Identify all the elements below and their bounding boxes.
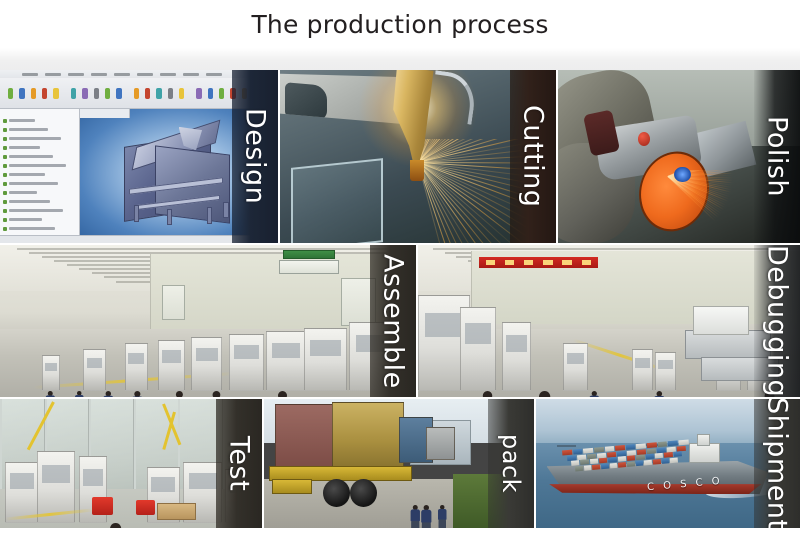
panel-label-band-debugging: Debugging	[754, 245, 800, 397]
cad-tree-label	[9, 173, 45, 176]
worker-head	[175, 391, 182, 397]
cad-menu-item	[160, 73, 176, 76]
cad-toolbar-icon	[156, 88, 161, 99]
gallery-row-2: Assemble Debugging	[0, 245, 800, 397]
debug-machine	[502, 322, 531, 391]
panel-label-band-test: Test	[216, 399, 262, 528]
cad-toolbar-icon	[31, 88, 36, 99]
page-title: The production process	[251, 10, 548, 39]
scene-assembly-line	[0, 245, 416, 397]
cad-tree-label	[9, 200, 50, 203]
cad-toolbar-icon	[19, 88, 24, 99]
scene-machine-debugging	[418, 245, 800, 397]
cad-toolbar-icon	[134, 88, 139, 99]
cad-tree-row	[3, 135, 77, 142]
process-panel-polish[interactable]: Polish	[558, 70, 800, 243]
process-panel-design[interactable]: Design	[0, 70, 278, 243]
ship-container	[670, 457, 678, 463]
cad-tree-row	[3, 189, 77, 196]
cad-tree-label	[9, 227, 55, 230]
header-divider	[0, 48, 800, 70]
ship-container	[610, 462, 618, 468]
ship-container	[601, 463, 609, 469]
workshop-banner	[479, 257, 598, 268]
machine-control-panel	[45, 363, 58, 372]
cad-toolbar-icon	[145, 88, 150, 99]
process-panel-test[interactable]: Test	[0, 399, 262, 528]
panel-label-polish: Polish	[764, 116, 791, 197]
ship-container	[661, 458, 669, 464]
process-panel-assemble[interactable]: Assemble	[0, 245, 416, 397]
cad-tree-label	[9, 128, 48, 131]
machine-control-panel	[83, 469, 103, 486]
cad-toolbar-icon	[8, 88, 13, 99]
worker-torso	[589, 396, 599, 397]
cad-tree-label	[9, 182, 58, 185]
cad-menu-item	[206, 73, 222, 76]
machine-control-panel	[234, 345, 259, 359]
cad-menu-item	[137, 73, 153, 76]
cad-toolbar-icon	[168, 88, 173, 99]
cad-menu-item	[45, 73, 61, 76]
machine-control-panel	[128, 353, 144, 365]
assembly-machine	[83, 349, 106, 391]
cad-tree-icon	[3, 227, 7, 231]
worker-head	[278, 391, 287, 397]
machine-control-panel	[310, 340, 342, 356]
panel-label-band-pack: pack	[488, 399, 534, 528]
debug-machine	[632, 349, 653, 391]
ship-container	[618, 462, 626, 468]
machine-control-panel	[567, 353, 584, 365]
cad-tree-label	[9, 164, 66, 167]
panel-label-band-cutting: Cutting	[510, 70, 556, 243]
machine-control-panel	[87, 358, 103, 368]
machine-control-panel	[162, 350, 181, 363]
machine-control-panel	[465, 323, 491, 344]
panel-label-shipment: Shipment	[764, 399, 791, 528]
cad-toolbar-icon	[116, 88, 121, 99]
worker-torso	[421, 510, 431, 523]
cad-tree-row	[3, 126, 77, 133]
cad-tree-label	[9, 119, 35, 122]
cad-tree-row	[3, 216, 77, 223]
ship-container	[592, 464, 600, 470]
process-gallery: Design Cutting	[0, 70, 800, 528]
machine-control-panel	[189, 473, 217, 488]
panel-label-band-shipment: Shipment	[754, 399, 800, 528]
assembly-machine	[42, 355, 61, 390]
assembly-machine	[229, 334, 264, 391]
machine-control-panel	[635, 358, 650, 368]
process-panel-cutting[interactable]: Cutting	[280, 70, 556, 243]
cad-toolbar-icon	[42, 88, 47, 99]
worker-torso	[131, 396, 143, 397]
worker-torso	[411, 509, 420, 521]
panel-label-pack: pack	[499, 434, 523, 493]
cad-tree-row	[3, 225, 77, 232]
worker-torso	[103, 396, 113, 397]
cad-tree-icon	[3, 128, 7, 132]
cad-tree-icon	[3, 218, 7, 222]
cad-menu-item	[183, 73, 199, 76]
cad-toolbar-icon	[208, 88, 213, 99]
cad-menu-item	[22, 73, 38, 76]
panel-label-band-assemble: Assemble	[370, 245, 416, 397]
ship-container	[635, 460, 643, 466]
ceiling-beam	[433, 248, 784, 250]
machine-control-panel	[272, 343, 300, 358]
worker-head	[538, 391, 549, 397]
cad-tree-icon	[3, 209, 7, 213]
machine-control-panel	[42, 465, 70, 483]
cad-tree-row	[3, 207, 77, 214]
cad-tree-row	[3, 171, 77, 178]
cad-toolbar-icon	[53, 88, 58, 99]
assembly-machine	[158, 340, 185, 391]
worker-torso	[438, 509, 447, 520]
worker-torso	[75, 395, 84, 397]
panel-label-design: Design	[242, 108, 269, 204]
cad-tree-icon	[3, 182, 7, 186]
cad-tree-label	[9, 191, 37, 194]
footer-whitespace	[0, 528, 800, 546]
cad-toolbar-icon	[82, 88, 87, 99]
panel-label-test: Test	[226, 436, 253, 491]
cad-menu-item	[114, 73, 130, 76]
assembly-machine	[125, 343, 148, 391]
cad-tree-icon	[3, 164, 7, 168]
cad-tree-icon	[3, 155, 7, 159]
ship-container	[575, 466, 583, 472]
ceiling-beam	[17, 248, 400, 250]
cad-tree-icon	[3, 137, 7, 141]
assembly-machine	[191, 337, 222, 391]
panel-label-band-polish: Polish	[754, 70, 800, 243]
machine-control-panel	[425, 313, 463, 338]
cad-tree-row	[3, 162, 77, 169]
cad-tree-label	[9, 218, 42, 221]
cad-tree-label	[9, 146, 40, 149]
ship-container	[653, 459, 661, 465]
assembly-machine	[266, 331, 305, 391]
machine-control-panel	[506, 335, 526, 352]
cad-tree-icon	[3, 119, 7, 123]
process-panel-shipment[interactable]: C O S C O Shipment	[536, 399, 800, 528]
debug-machine	[655, 352, 676, 390]
ship-container	[644, 459, 652, 465]
panel-label-cutting: Cutting	[520, 105, 547, 207]
cad-toolbar-icon	[71, 88, 76, 99]
worker-torso	[653, 396, 664, 397]
cad-tree-icon	[3, 146, 7, 150]
process-panel-pack[interactable]: pack	[264, 399, 534, 528]
debug-machine	[563, 343, 588, 391]
cad-toolbar-icon	[105, 88, 110, 99]
cad-toolbar-icon	[94, 88, 99, 99]
cad-menu-item	[68, 73, 84, 76]
cad-tree-label	[9, 155, 53, 158]
cad-tree-icon	[3, 191, 7, 195]
worker-legs	[438, 519, 446, 528]
ship-container	[627, 461, 635, 467]
machine-control-panel	[196, 348, 218, 361]
gallery-row-3: Test pack	[0, 399, 800, 528]
cad-tree-row	[3, 117, 77, 124]
cad-tree-icon	[3, 173, 7, 177]
gallery-row-1: Design Cutting	[0, 70, 800, 243]
worker-head	[212, 391, 220, 397]
cad-toolbar-icon	[219, 88, 224, 99]
cad-tree-label	[9, 137, 61, 140]
worker-legs	[411, 521, 419, 528]
worker-torso	[45, 395, 54, 397]
machine-control-panel	[10, 473, 34, 488]
panel-label-band-design: Design	[232, 70, 278, 243]
cad-menu-item	[91, 73, 107, 76]
machine-control-panel	[658, 360, 673, 369]
cad-tree-icon	[3, 200, 7, 204]
assembly-machine	[304, 328, 348, 391]
page-header: The production process	[0, 0, 800, 48]
panel-label-assemble: Assemble	[380, 254, 407, 389]
machine-control-panel	[151, 477, 175, 491]
cad-toolbar-icon	[196, 88, 201, 99]
ship-container	[584, 465, 592, 471]
panel-label-debugging: Debugging	[764, 245, 791, 397]
cad-tree-label	[9, 209, 63, 212]
worker-head	[482, 391, 491, 397]
cad-tree-row	[3, 153, 77, 160]
debug-machine	[460, 307, 496, 391]
cad-tree-row	[3, 144, 77, 151]
process-panel-debugging[interactable]: Debugging	[418, 245, 800, 397]
cad-toolbar-icon	[179, 88, 184, 99]
cad-tree-row	[3, 198, 77, 205]
ship-container	[673, 451, 682, 457]
cad-tree-row	[3, 180, 77, 187]
